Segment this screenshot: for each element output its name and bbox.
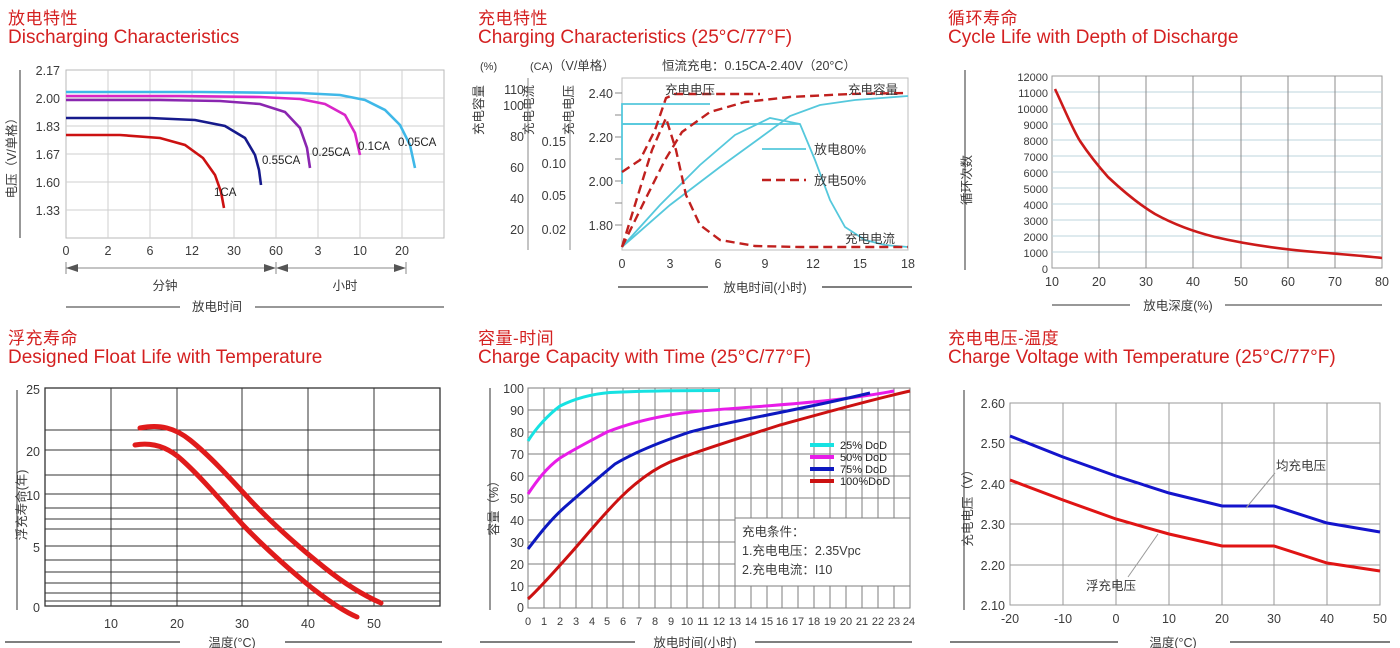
x-tick: 50	[1234, 275, 1248, 289]
x-axis-label: 放电深度(%)	[1143, 298, 1212, 313]
y-tick: 1.80	[589, 219, 613, 233]
x-tick: 50	[1373, 612, 1387, 626]
x-tick: 9	[668, 616, 674, 628]
y-tick: 4000	[1024, 200, 1048, 212]
x-tick: 18	[901, 257, 915, 271]
x-tick: 6	[620, 616, 626, 628]
x-tick: 4	[589, 616, 595, 628]
x-tick: 3	[573, 616, 579, 628]
x-tick: 60	[269, 244, 283, 258]
plot-frame	[1010, 403, 1380, 605]
y-tick: 2.40	[981, 478, 1005, 492]
axis-segment-arrows	[66, 262, 406, 274]
x-tick-labels: 10 20 30 40 50 60 70 80	[1045, 275, 1389, 289]
annotation-charge-voltage: 充电电压	[665, 82, 715, 97]
x-axis-label: 放电时间	[192, 299, 242, 314]
y-tick: 2.17	[36, 64, 60, 78]
x-axis-label: 放电时间(小时)	[723, 280, 806, 295]
charts-grid: 放电特性 Discharging Characteristics	[0, 0, 1400, 648]
x-tick: 20	[1092, 275, 1106, 289]
x-tick: 30	[1139, 275, 1153, 289]
y-tick: 0	[33, 601, 40, 615]
legend-label: 25% DoD	[840, 440, 887, 452]
x-tick: 40	[301, 617, 315, 631]
current-ticks: 0.15 0.10 0.05 0.02	[542, 135, 566, 237]
y-tick: 25	[26, 383, 40, 397]
condition-note: 恒流充电：0.15CA-2.40V（20°C）	[662, 58, 856, 73]
panel-charge-voltage-temperature: 充电电压-温度 Charge Voltage with Temperature …	[940, 320, 1400, 648]
axis-unit-voltage: （V/单格）	[553, 58, 615, 73]
x-tick: 13	[729, 616, 741, 628]
x-tick: -20	[1001, 612, 1019, 626]
y-tick: 2000	[1024, 232, 1048, 244]
x-tick: 14	[745, 616, 757, 628]
y-tick: 7000	[1024, 152, 1048, 164]
x-tick: 12	[185, 244, 199, 258]
legend-label: 50% DoD	[840, 452, 887, 464]
y-axis-label: 循环次数	[959, 155, 974, 206]
y-axis-name-capacity: 充电容量	[471, 85, 486, 135]
y-tick: 40	[510, 192, 524, 206]
legend-label-50: 放电50%	[814, 173, 866, 188]
y-axis-label: 容量（%）	[486, 474, 501, 535]
note-line: 充电条件：	[742, 524, 805, 539]
chart-charge-voltage-temp: 充电电压（V） 2.60 2.50 2.40	[940, 320, 1400, 648]
panel-discharging-characteristics: 放电特性 Discharging Characteristics	[0, 0, 470, 320]
y-tick: 2.50	[981, 437, 1005, 451]
x-tick: -10	[1054, 612, 1072, 626]
curve-label: 0.25CA	[312, 147, 351, 159]
y-tick: 9000	[1024, 120, 1048, 132]
x-tick: 9	[762, 257, 769, 271]
y-tick-labels: 25 20 10 5 0	[26, 383, 40, 615]
x-tick: 8	[652, 616, 658, 628]
y-tick: 30	[510, 536, 524, 550]
y-tick-labels: 2.17 2.00 1.83 1.67 1.60 1.33	[36, 64, 60, 218]
x-tick: 15	[761, 616, 773, 628]
charge-conditions-box: 充电条件： 1.充电电压：2.35Vpc 2.充电电流：I10	[735, 518, 910, 586]
note-line: 1.充电电压：2.35Vpc	[742, 543, 861, 558]
y-tick: 10	[510, 580, 524, 594]
annotation-charge-capacity: 充电容量	[848, 82, 898, 97]
x-tick: 40	[1186, 275, 1200, 289]
y-tick: 20	[26, 445, 40, 459]
x-axis-label: 温度(°C)	[1149, 635, 1196, 648]
x-tick: 7	[636, 616, 642, 628]
x-tick: 60	[1281, 275, 1295, 289]
y-tick: 12000	[1017, 72, 1048, 84]
x-axis-label: 温度(°C)	[208, 635, 255, 648]
x-tick: 0	[63, 244, 70, 258]
x-tick: 30	[227, 244, 241, 258]
y-tick: 10	[26, 489, 40, 503]
axis-segment-label-minutes: 分钟	[152, 278, 177, 293]
x-tick: 12	[806, 257, 820, 271]
y-tick: 2.30	[981, 518, 1005, 532]
capacity-ticks: 110 100 80 60 40 20	[503, 83, 524, 237]
y-tick: 1.33	[36, 204, 60, 218]
x-tick: 10	[104, 617, 118, 631]
x-tick: 0	[1113, 612, 1120, 626]
y-tick: 11000	[1018, 88, 1048, 100]
x-tick: 11	[697, 616, 708, 628]
y-tick: 1.83	[36, 120, 60, 134]
y-tick: 2.00	[589, 175, 613, 189]
x-tick: 30	[235, 617, 249, 631]
y-tick: 80	[510, 130, 524, 144]
x-tick: 0	[525, 616, 531, 628]
x-tick: 2	[105, 244, 112, 258]
panel-float-life: 浮充寿命 Designed Float Life with Temperatur…	[0, 320, 470, 648]
x-tick: 1	[541, 616, 547, 628]
x-tick: 23	[888, 616, 900, 628]
y-tick: 3000	[1024, 216, 1048, 228]
panel-cycle-life: 循环寿命 Cycle Life with Depth of Discharge …	[940, 0, 1400, 320]
x-tick: 10	[681, 616, 693, 628]
y-tick: 60	[510, 470, 524, 484]
x-tick: 50	[367, 617, 381, 631]
x-tick: 20	[1215, 612, 1229, 626]
x-tick: 22	[872, 616, 884, 628]
curve-label: 0.05CA	[398, 137, 437, 149]
y-axis-label: 浮充寿命(年)	[14, 470, 29, 541]
y-tick: 110	[504, 83, 524, 97]
y-tick: 2.20	[981, 559, 1005, 573]
chart-cycle-life: 循环次数	[940, 0, 1400, 320]
y-tick: 100	[503, 99, 524, 113]
x-tick: 24	[903, 616, 915, 628]
panel-charge-capacity: 容量-时间 Charge Capacity with Time (25°C/77…	[470, 320, 940, 648]
annotation-equalize-voltage: 均充电压	[1276, 458, 1326, 473]
axis-unit-percent: (%)	[480, 61, 497, 73]
legend-label: 100%DoD	[840, 476, 890, 488]
x-tick: 17	[792, 616, 804, 628]
voltage-axis-ticks	[615, 93, 622, 225]
annotation-charge-current: 充电电流	[845, 231, 896, 246]
y-tick-labels: 12000 11000 10000 9000 8000 7000 6000 50…	[1017, 72, 1048, 276]
chart-charging: (%) (CA) （V/单格） 恒流充电：0.15CA-2.40V（20°C） …	[470, 0, 940, 320]
y-tick: 50	[510, 492, 524, 506]
panel-charging-characteristics: 充电特性 Charging Characteristics (25°C/77°F…	[470, 0, 940, 320]
y-tick: 2.20	[589, 131, 613, 145]
x-tick: 20	[840, 616, 852, 628]
x-tick-labels: 0 3 6 9 12 15 18	[619, 257, 915, 271]
x-tick: 10	[1162, 612, 1176, 626]
y-tick: 40	[510, 514, 524, 528]
axis-segment-label-hours: 小时	[332, 279, 358, 293]
y-axis-label: 充电电压（V）	[960, 463, 975, 546]
y-tick-labels: 2.60 2.50 2.40 2.30 2.20 2.10	[981, 397, 1005, 613]
y-tick: 100	[503, 382, 524, 396]
x-tick: 18	[808, 616, 820, 628]
y-tick: 0.02	[542, 223, 566, 237]
y-tick: 0	[517, 601, 524, 615]
chart-float-life: 浮充寿命(年)	[0, 320, 470, 648]
y-tick-labels: 100 90 80 70 60 50 40 30 20 10 0	[503, 382, 524, 615]
curve-label: 1CA	[214, 187, 237, 199]
y-tick: 5000	[1024, 184, 1048, 196]
x-tick: 6	[147, 244, 154, 258]
x-tick: 20	[170, 617, 184, 631]
x-tick: 20	[395, 244, 409, 258]
y-tick: 90	[510, 404, 524, 418]
curve-label: 0.1CA	[358, 141, 390, 153]
y-tick: 1000	[1024, 248, 1048, 260]
x-tick: 5	[604, 616, 610, 628]
y-axis-name-voltage: 充电电压	[561, 85, 576, 135]
y-tick: 6000	[1024, 168, 1048, 180]
x-tick: 21	[856, 616, 868, 628]
chart-discharging: 2.17 2.00 1.83 1.67 1.60 1.33 电压（V/单格） 1…	[0, 0, 470, 320]
chart-charge-capacity: 容量（%）	[470, 320, 940, 648]
x-tick-labels: -20 -10 0 10 20 30 40 50	[1001, 612, 1387, 626]
x-tick-labels: 10 20 30 40 50	[104, 617, 381, 631]
y-tick: 1.67	[36, 148, 60, 162]
x-tick: 0	[619, 257, 626, 271]
y-tick: 20	[510, 558, 524, 572]
x-tick: 15	[853, 257, 867, 271]
x-tick-labels: 0 2 6 12 30 60 3 10 20	[63, 244, 409, 258]
y-tick: 2.00	[36, 92, 60, 106]
y-tick: 0.15	[542, 135, 566, 149]
x-tick: 2	[557, 616, 563, 628]
axis-unit-ca: (CA)	[530, 61, 553, 73]
x-tick: 80	[1375, 275, 1389, 289]
note-line: 2.充电电流：I10	[742, 562, 832, 577]
y-tick: 0.05	[542, 189, 566, 203]
y-tick: 60	[510, 161, 524, 175]
y-tick: 1.60	[36, 176, 60, 190]
legend-label: 75% DoD	[840, 464, 887, 476]
x-tick: 40	[1320, 612, 1334, 626]
y-tick: 2.40	[589, 87, 613, 101]
x-tick: 70	[1328, 275, 1342, 289]
x-tick: 3	[667, 257, 674, 271]
voltage-ticks: 2.40 2.20 2.00 1.80	[589, 87, 613, 233]
y-tick: 2.10	[981, 599, 1005, 613]
y-axis-label: 电压（V/单格）	[4, 112, 19, 199]
x-tick: 10	[1045, 275, 1059, 289]
y-tick: 0.10	[542, 157, 566, 171]
x-tick: 19	[824, 616, 836, 628]
x-tick: 6	[715, 257, 722, 271]
x-tick: 30	[1267, 612, 1281, 626]
y-tick: 10000	[1017, 104, 1048, 116]
y-tick: 20	[510, 223, 524, 237]
y-tick: 80	[510, 426, 524, 440]
y-tick: 70	[510, 448, 524, 462]
annotation-float-voltage: 浮充电压	[1086, 578, 1136, 593]
y-tick: 5	[33, 541, 40, 555]
curve-label: 0.55CA	[262, 155, 301, 167]
y-tick: 8000	[1024, 136, 1048, 148]
x-tick-labels: 0 1 2 3 4 5 6 7 8 9 10 11 12 13 14 15 16…	[525, 616, 915, 628]
x-axis-label: 放电时间(小时)	[653, 635, 736, 648]
y-tick: 2.60	[981, 397, 1005, 411]
x-tick: 10	[353, 244, 367, 258]
x-tick: 3	[315, 244, 322, 258]
legend-label-80: 放电80%	[814, 142, 866, 157]
x-tick: 16	[776, 616, 788, 628]
x-tick: 12	[713, 616, 725, 628]
